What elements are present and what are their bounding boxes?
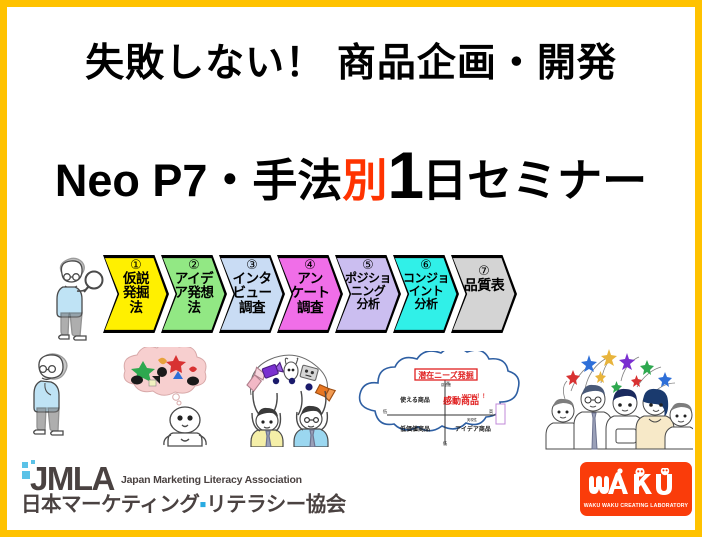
process-step-3: ③ インタ ビュー 調査 bbox=[219, 255, 285, 333]
step-1-line-2: 発掘 bbox=[123, 286, 149, 301]
quadrant-bottom-left-label: 低価値商品 bbox=[399, 425, 430, 433]
jmla-english-name: Japan Marketing Literacy Association bbox=[121, 474, 302, 486]
step-5-line-1: ポジショ bbox=[345, 272, 391, 285]
step-1-number: ① bbox=[130, 258, 142, 272]
step-4-line-3: 調査 bbox=[291, 301, 330, 316]
seminar-poster: 失敗しない！ 商品企画・開発 Neo P7・手法別1日セミナー ① 仮説 発掘 … bbox=[0, 0, 702, 537]
jmla-accent-dot-3 bbox=[22, 471, 30, 479]
step-7-label: 品質表 bbox=[464, 278, 505, 293]
subtitle-big-number: 1 bbox=[387, 138, 422, 212]
step-2-line-3: 法 bbox=[175, 301, 214, 316]
person-with-magnifying-glass-icon bbox=[43, 255, 107, 347]
step-4-label: アン ケート 調査 bbox=[291, 272, 330, 316]
step-1-label: 仮説 発掘 法 bbox=[123, 272, 149, 316]
person-thinking-icon bbox=[23, 347, 85, 443]
jmla-wordmark: JMLA bbox=[30, 462, 114, 495]
jmla-accent-dot-1 bbox=[22, 462, 28, 468]
process-step-6: ⑥ コンジョ イント 分析 bbox=[393, 255, 459, 333]
waku-wordmark-graphic bbox=[580, 468, 692, 502]
quadrant-title: 潜在ニーズ発掘 bbox=[418, 370, 474, 380]
page-title: 失敗しない！ 商品企画・開発 bbox=[7, 43, 695, 86]
step-6-number: ⑥ bbox=[420, 258, 432, 272]
idea-thought-bubble-icon bbox=[103, 347, 221, 447]
process-step-4: ④ アン ケート 調査 bbox=[277, 255, 343, 333]
celebrating-group-icon bbox=[541, 345, 693, 453]
step-6-label: コンジョ イント 分析 bbox=[403, 272, 449, 311]
process-step-7: ⑦ 品質表 bbox=[451, 255, 517, 333]
step-4-line-2: ケート bbox=[291, 286, 330, 301]
process-step-1: ① 仮説 発掘 法 bbox=[103, 255, 169, 333]
seminar-subtitle: Neo P7・手法別1日セミナー bbox=[7, 149, 695, 204]
needs-quadrant-cloud-diagram: 潜在ニーズ発掘 感動度 高 WOW！！ 感動商品 使える商品 低価値商品 アイデ… bbox=[351, 351, 543, 455]
step-4-number: ④ bbox=[304, 258, 316, 272]
quadrant-axis-bottom: 低 bbox=[443, 440, 448, 447]
step-5-label: ポジショ ニング 分析 bbox=[345, 272, 391, 311]
quadrant-axis-top: 高 bbox=[446, 380, 450, 386]
quadrant-axis-x-label: 実現性 bbox=[467, 417, 478, 422]
step-6-line-2: イント bbox=[403, 285, 449, 298]
quadrant-axis-left: 低 bbox=[383, 408, 388, 415]
step-3-line-1: インタ bbox=[233, 272, 272, 287]
process-step-row: ① 仮説 発掘 法 ② アイデ ア発想 法 ③ bbox=[103, 255, 509, 335]
process-step-2: ② アイデ ア発想 法 bbox=[161, 255, 227, 333]
step-2-line-2: ア発想 bbox=[175, 286, 214, 301]
process-step-5: ⑤ ポジショ ニング 分析 bbox=[335, 255, 401, 333]
step-5-line-3: 分析 bbox=[345, 298, 391, 311]
step-3-number: ③ bbox=[246, 258, 258, 272]
quadrant-axis-right: 高 bbox=[489, 408, 494, 415]
step-6-line-3: 分析 bbox=[403, 298, 449, 311]
step-7-line-1: 品質表 bbox=[464, 278, 505, 293]
quadrant-center-label: 感動商品 bbox=[443, 395, 479, 406]
step-1-line-3: 法 bbox=[123, 301, 149, 316]
quadrant-side-box bbox=[496, 404, 505, 424]
step-3-line-2: ビュー bbox=[233, 286, 272, 301]
subtitle-accent-betsu: 別 bbox=[342, 155, 387, 206]
step-5-line-2: ニング bbox=[345, 285, 391, 298]
quadrant-top-left-label: 使える商品 bbox=[399, 396, 430, 404]
step-3-label: インタ ビュー 調査 bbox=[233, 272, 272, 316]
step-6-line-1: コンジョ bbox=[403, 272, 449, 285]
step-7-number: ⑦ bbox=[478, 264, 490, 278]
subtitle-part1: Neo P7・手法 bbox=[55, 155, 343, 206]
jmla-jp-post: リテラシー協会 bbox=[206, 493, 346, 516]
step-3-line-3: 調査 bbox=[233, 301, 272, 316]
two-people-raising-hands-icon bbox=[229, 347, 351, 447]
step-2-number: ② bbox=[188, 258, 200, 272]
step-5-number: ⑤ bbox=[362, 258, 374, 272]
step-2-label: アイデ ア発想 法 bbox=[175, 272, 214, 316]
jmla-japanese-name: 日本マーケティング▪リテラシー協会 bbox=[21, 495, 311, 516]
subtitle-part2: 日セミナー bbox=[422, 155, 647, 206]
waku-tagline: WAKU WAKU CREATING LABORATORY bbox=[580, 503, 692, 509]
waku-logo: WAKU WAKU CREATING LABORATORY bbox=[580, 462, 692, 516]
step-4-line-1: アン bbox=[291, 272, 330, 287]
quadrant-bottom-right-label: アイデア商品 bbox=[455, 425, 491, 433]
jmla-logo: JMLA Japan Marketing Literacy Associatio… bbox=[21, 462, 311, 520]
